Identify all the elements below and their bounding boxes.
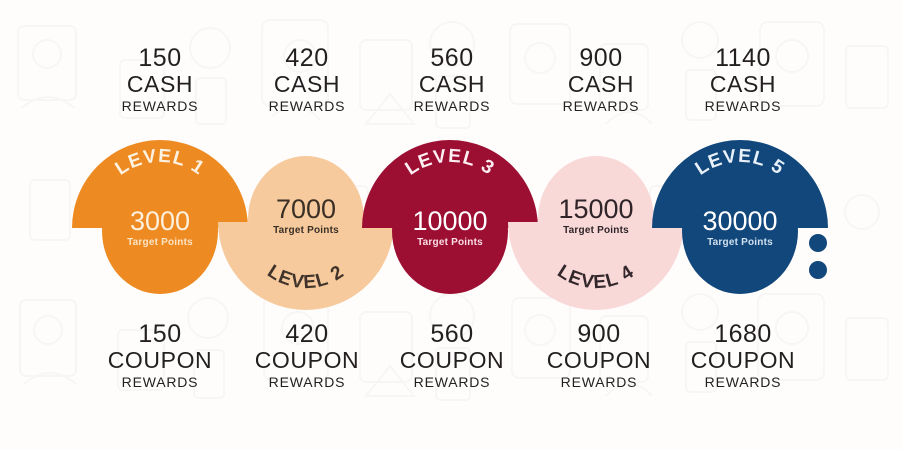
level-4-coupon-rewards-word: REWARDS: [524, 375, 674, 389]
infographic-canvas: LEVEL 1 LEVEL 2 LEVEL 3 LEVEL 4: [0, 0, 902, 450]
level-5-cash-amount: 1140: [668, 46, 818, 72]
level-2-core-circle: [248, 156, 364, 282]
level-3-coupon-rewards-word: REWARDS: [377, 375, 527, 389]
level-3-cash-rewards-word: REWARDS: [377, 99, 527, 113]
level-2-cash-reward: 420 CASH REWARDS: [232, 46, 382, 113]
level-3-core-circle: [392, 168, 508, 294]
level-2-cash-kind: CASH: [232, 73, 382, 96]
level-2-coupon-kind: COUPON: [232, 349, 382, 372]
level-1-coupon-rewards-word: REWARDS: [85, 375, 235, 389]
level-4-core-circle: [538, 156, 654, 282]
level-node-1[interactable]: LEVEL 1: [72, 140, 248, 294]
level-4-cash-reward: 900 CASH REWARDS: [526, 46, 676, 113]
level-5-coupon-reward: 1680 COUPON REWARDS: [668, 322, 818, 389]
level-node-4[interactable]: LEVEL 4: [508, 156, 684, 310]
continuation-dots-icon: [809, 234, 827, 279]
level-5-cash-rewards-word: REWARDS: [668, 99, 818, 113]
level-2-coupon-reward: 420 COUPON REWARDS: [232, 322, 382, 389]
level-4-coupon-amount: 900: [524, 322, 674, 348]
level-2-coupon-rewards-word: REWARDS: [232, 375, 382, 389]
level-5-coupon-rewards-word: REWARDS: [668, 375, 818, 389]
level-1-coupon-reward: 150 COUPON REWARDS: [85, 322, 235, 389]
level-node-3[interactable]: LEVEL 3: [362, 140, 538, 294]
level-4-cash-kind: CASH: [526, 73, 676, 96]
level-3-coupon-reward: 560 COUPON REWARDS: [377, 322, 527, 389]
level-4-cash-rewards-word: REWARDS: [526, 99, 676, 113]
level-1-core-circle: [102, 168, 218, 294]
level-1-cash-kind: CASH: [85, 73, 235, 96]
level-3-cash-reward: 560 CASH REWARDS: [377, 46, 527, 113]
level-2-coupon-amount: 420: [232, 322, 382, 348]
level-5-coupon-kind: COUPON: [668, 349, 818, 372]
level-2-cash-amount: 420: [232, 46, 382, 72]
level-4-coupon-reward: 900 COUPON REWARDS: [524, 322, 674, 389]
level-3-coupon-amount: 560: [377, 322, 527, 348]
level-3-coupon-kind: COUPON: [377, 349, 527, 372]
level-5-cash-kind: CASH: [668, 73, 818, 96]
level-node-5[interactable]: LEVEL 5: [652, 140, 828, 294]
level-1-cash-reward: 150 CASH REWARDS: [85, 46, 235, 113]
level-5-coupon-amount: 1680: [668, 322, 818, 348]
level-3-cash-kind: CASH: [377, 73, 527, 96]
level-5-cash-reward: 1140 CASH REWARDS: [668, 46, 818, 113]
level-1-cash-amount: 150: [85, 46, 235, 72]
level-1-coupon-amount: 150: [85, 322, 235, 348]
level-1-coupon-kind: COUPON: [85, 349, 235, 372]
level-2-cash-rewards-word: REWARDS: [232, 99, 382, 113]
level-node-2[interactable]: LEVEL 2: [218, 156, 394, 310]
level-5-core-circle: [682, 168, 798, 294]
level-4-cash-amount: 900: [526, 46, 676, 72]
level-1-cash-rewards-word: REWARDS: [85, 99, 235, 113]
level-3-cash-amount: 560: [377, 46, 527, 72]
level-4-coupon-kind: COUPON: [524, 349, 674, 372]
